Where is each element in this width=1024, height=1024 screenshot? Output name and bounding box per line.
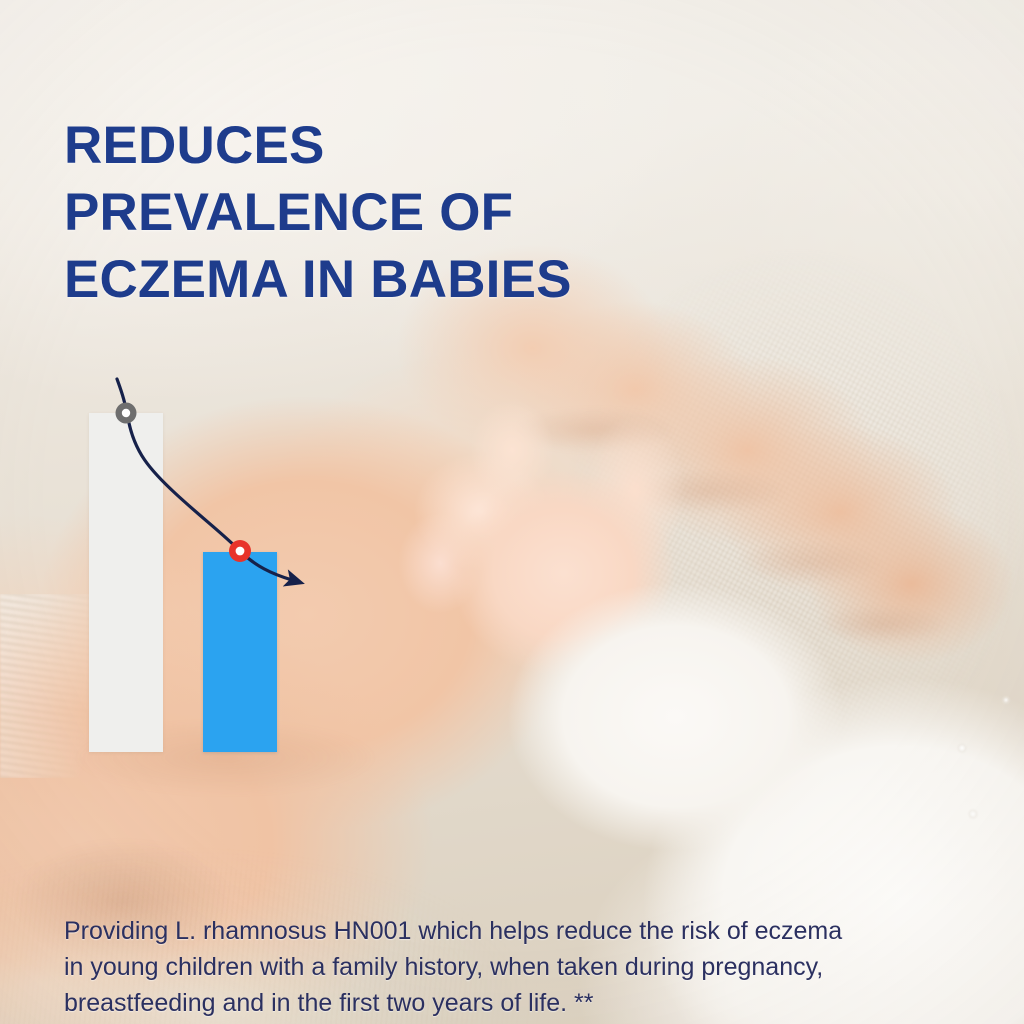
eczema-claim-poster: REDUCES PREVALENCE OF ECZEMA IN BABIES P…	[0, 0, 1024, 1024]
claim-description: Providing L. rhamnosus HN001 which helps…	[64, 913, 904, 1021]
reduced-point-center	[236, 547, 245, 556]
baseline-point-marker	[116, 403, 137, 424]
headline-line-1: REDUCES	[64, 112, 704, 179]
baseline-point-center	[122, 409, 130, 417]
background-ribbed-fabric	[0, 594, 92, 778]
page-title: REDUCES PREVALENCE OF ECZEMA IN BABIES	[64, 112, 704, 313]
headline-line-3: ECZEMA IN BABIES	[64, 246, 704, 313]
body-line-3: breastfeeding and in the first two years…	[64, 985, 904, 1021]
trend-line	[117, 379, 292, 580]
body-line-2: in young children with a family history,…	[64, 949, 904, 985]
body-line-1: Providing L. rhamnosus HN001 which helps…	[64, 913, 904, 949]
reduced-point-marker	[229, 540, 251, 562]
background-knit-texture	[553, 246, 1024, 778]
bar-with-hn001	[203, 552, 277, 752]
bar-without-hn001	[89, 413, 163, 752]
headline-line-2: PREVALENCE OF	[64, 179, 704, 246]
